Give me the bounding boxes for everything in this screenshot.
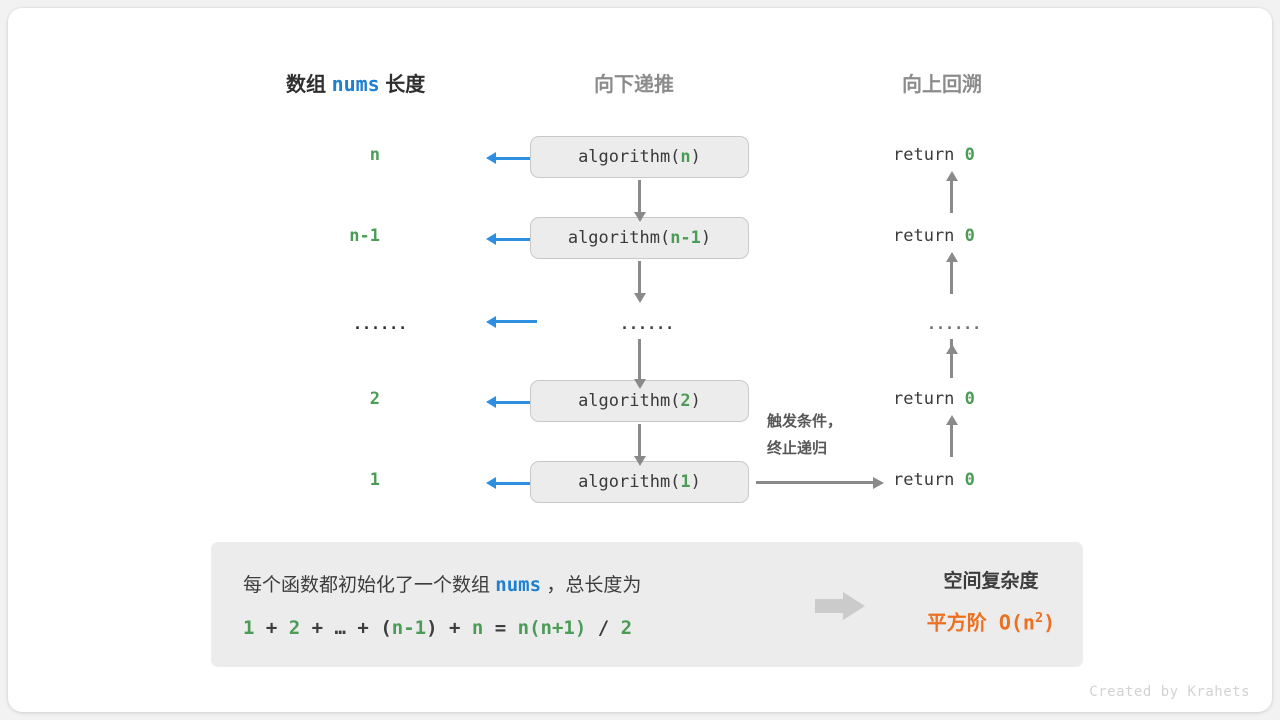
call-suffix: ) [701, 228, 711, 248]
formula-token: 2 [621, 617, 632, 639]
size-label: 2 [260, 389, 380, 409]
formula-token: n-1 [392, 617, 426, 639]
return-value: 0 [965, 470, 975, 490]
summary-panel: 每个函数都初始化了一个数组 nums ，总长度为 1 + 2 + … + (n-… [211, 542, 1083, 667]
return-value: 0 [965, 389, 975, 409]
formula-token: + … + [300, 617, 380, 639]
formula-token: 2 [289, 617, 300, 639]
size-label-ellipsis: ······ [353, 319, 407, 337]
call-box: algorithm(n-1) [530, 217, 749, 259]
call-suffix: ) [691, 391, 701, 411]
return-value: 0 [965, 226, 975, 246]
annotation-line-1: 触发条件， [767, 408, 842, 435]
base-case-annotation: 触发条件， 终止递归 [767, 408, 842, 462]
formula-token: + [254, 617, 288, 639]
header-left: 数组 nums 长度 [286, 68, 425, 97]
summary-sentence: 每个函数都初始化了一个数组 nums ，总长度为 1 + 2 + … + (n-… [243, 564, 641, 649]
formula-token: / [586, 617, 620, 639]
complexity-order-cn: 平方阶 [927, 613, 987, 635]
call-box-ellipsis: ······ [620, 319, 674, 337]
watermark: Created by Krahets [1089, 684, 1250, 700]
implies-arrow-icon [815, 592, 869, 618]
diagram-card: 数组 nums 长度 向下递推 向上回溯 n algorithm(n) retu… [8, 8, 1272, 712]
call-box: algorithm(n) [530, 136, 749, 178]
backtrack-up-arrow-icon [950, 353, 953, 378]
summary-suffix: ，总长度为 [546, 575, 641, 596]
call-prefix: algorithm( [578, 472, 680, 492]
complexity-value: 平方阶 O(n2) [901, 600, 1081, 642]
call-arg: 2 [680, 391, 690, 411]
size-label: n-1 [260, 226, 380, 246]
return-label: return 0 [893, 389, 975, 409]
call-box: algorithm(1) [530, 461, 749, 503]
backtrack-up-arrow-icon [950, 261, 953, 294]
header-left-mono: nums [332, 72, 380, 96]
header-right: 向上回溯 [902, 68, 982, 97]
complexity-close-paren: ) [1043, 611, 1055, 635]
formula-token: ) [426, 617, 437, 639]
call-arg: 1 [680, 472, 690, 492]
complexity-big-o: O(n [999, 611, 1035, 635]
complexity-exponent: 2 [1035, 610, 1043, 626]
header-middle: 向下递推 [594, 68, 674, 97]
return-text: return [893, 389, 965, 409]
call-arg: n-1 [670, 228, 701, 248]
return-text: return [893, 145, 965, 165]
call-prefix: algorithm( [578, 147, 680, 167]
recurse-down-segment [638, 339, 641, 363]
return-label-ellipsis: ······ [927, 319, 981, 337]
header-left-prefix: 数组 [286, 74, 326, 96]
recurse-down-arrow-icon [638, 261, 641, 294]
size-label: 1 [260, 470, 380, 490]
complexity-title: 空间复杂度 [901, 564, 1081, 600]
recurse-down-arrow-icon [638, 180, 641, 213]
complexity-result: 空间复杂度 平方阶 O(n2) [901, 564, 1081, 642]
size-label: n [260, 145, 380, 165]
base-case-arrow-icon [756, 481, 874, 484]
summary-mono: nums [495, 574, 541, 596]
backtrack-up-arrow-icon [950, 424, 953, 457]
summary-prefix: 每个函数都初始化了一个数组 [243, 575, 490, 596]
formula-token: 1 [243, 617, 254, 639]
return-label: return 0 [893, 470, 975, 490]
call-suffix: ) [691, 147, 701, 167]
return-value: 0 [965, 145, 975, 165]
call-prefix: algorithm( [568, 228, 670, 248]
recurse-down-arrow-icon [638, 424, 641, 457]
formula-token: ( [380, 617, 391, 639]
call-prefix: algorithm( [578, 391, 680, 411]
implies-arrow-head [843, 592, 865, 620]
formula-token: = [483, 617, 517, 639]
backtrack-up-segment [950, 339, 953, 353]
annotation-line-2: 终止递归 [767, 435, 842, 462]
formula-token: n(n+1) [518, 617, 587, 639]
backtrack-up-arrow-icon [950, 180, 953, 213]
formula-token: n [472, 617, 483, 639]
return-text: return [893, 470, 965, 490]
alloc-arrow-icon [495, 320, 537, 323]
return-text: return [893, 226, 965, 246]
call-suffix: ) [691, 472, 701, 492]
call-arg: n [680, 147, 690, 167]
implies-arrow-stem [815, 599, 845, 613]
header-left-suffix: 长度 [385, 74, 425, 96]
summary-formula: 1 + 2 + … + (n-1) + n = n(n+1) / 2 [243, 607, 641, 649]
recurse-down-arrow-icon [638, 363, 641, 380]
return-label: return 0 [893, 145, 975, 165]
return-label: return 0 [893, 226, 975, 246]
formula-token: + [438, 617, 472, 639]
